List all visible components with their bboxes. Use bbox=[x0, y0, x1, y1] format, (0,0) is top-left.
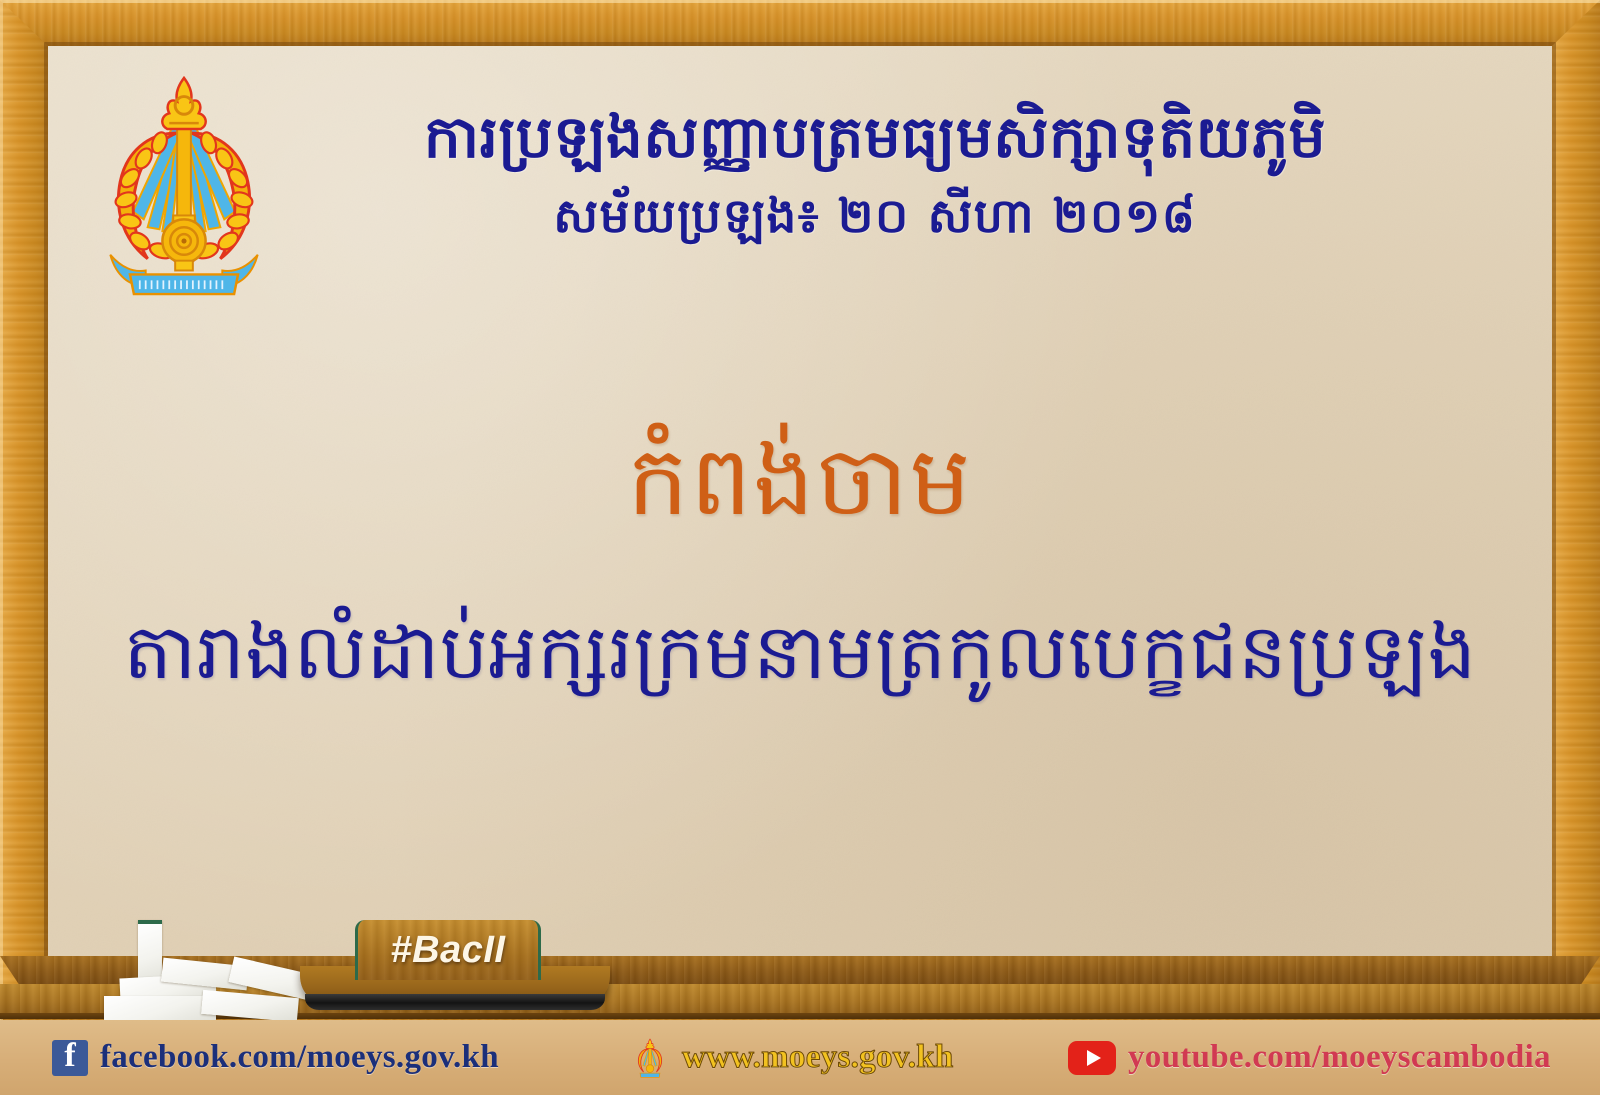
hashtag-label: #BacII bbox=[391, 929, 506, 972]
facebook-url-label: facebook.com/moeys.gov.kh bbox=[100, 1039, 499, 1076]
exam-session: សម័យប្រឡង៖ ២០ សីហា ២០១៨ bbox=[268, 189, 1482, 245]
facebook-icon bbox=[52, 1040, 88, 1076]
website-url-label: www.moeys.gov.kh bbox=[682, 1039, 954, 1076]
frame-left-bar bbox=[0, 0, 48, 1020]
footer-bar: facebook.com/moeys.gov.kh bbox=[0, 1020, 1600, 1095]
province-name: កំពង់ចាម bbox=[48, 426, 1552, 536]
footer-website-link[interactable]: www.moeys.gov.kh bbox=[630, 1038, 954, 1078]
frame-right-bar bbox=[1552, 0, 1600, 1020]
youtube-url-label: youtube.com/moeyscambodia bbox=[1128, 1039, 1551, 1076]
frame-top-bar bbox=[0, 0, 1600, 46]
moeys-royal-emblem-icon bbox=[100, 72, 268, 298]
board-main-content: កំពង់ចាម តារាងលំដាប់អក្សរក្រមនាមត្រកូលបេ… bbox=[48, 426, 1552, 698]
footer-youtube-link[interactable]: youtube.com/moeyscambodia bbox=[1068, 1039, 1551, 1076]
candidate-list-heading: តារាងលំដាប់អក្សរក្រមនាមត្រកូលបេក្ខជនប្រឡ… bbox=[48, 606, 1552, 697]
youtube-icon bbox=[1068, 1041, 1116, 1075]
footer-facebook-link[interactable]: facebook.com/moeys.gov.kh bbox=[52, 1039, 499, 1076]
exam-title: ការប្រឡងសញ្ញាបត្រមធ្យមសិក្សាទុតិយភូមិ bbox=[268, 104, 1482, 171]
chalkboard-surface: ការប្រឡងសញ្ញាបត្រមធ្យមសិក្សាទុតិយភូមិ សម… bbox=[48, 46, 1552, 956]
board-header: ការប្រឡងសញ្ញាបត្រមធ្យមសិក្សាទុតិយភូមិ សម… bbox=[48, 64, 1552, 298]
chalk-stick bbox=[104, 996, 216, 1022]
eraser-block: #BacII bbox=[355, 920, 541, 980]
header-text-block: ការប្រឡងសញ្ញាបត្រមធ្យមសិក្សាទុតិយភូមិ សម… bbox=[268, 64, 1552, 245]
slide-canvas: ការប្រឡងសញ្ញាបត្រមធ្យមសិក្សាទុតិយភូមិ សម… bbox=[0, 0, 1600, 1095]
eraser-felt-pad bbox=[305, 994, 605, 1010]
moeys-emblem-icon bbox=[630, 1038, 670, 1078]
